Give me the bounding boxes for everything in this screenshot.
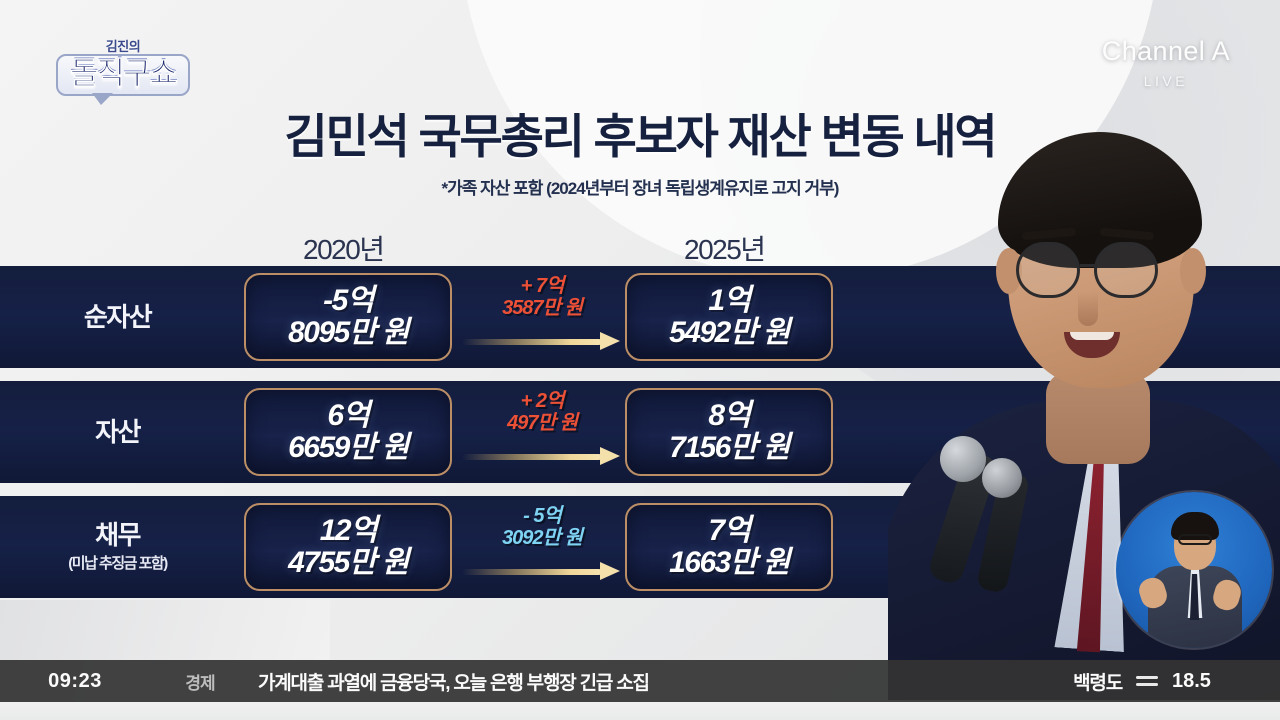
row-label-net-assets: 순자산 (0, 303, 235, 332)
value-line-1: 12억 (320, 516, 376, 547)
column-header-2020: 2020년 (303, 228, 384, 268)
program-logo-main-text: 돌직구쇼 (56, 54, 190, 97)
program-logo-top-text: 김진의 (106, 40, 140, 53)
value-line-1: 6억 (327, 401, 368, 432)
delta-line-1: - 5억 (523, 506, 561, 527)
broadcast-screen: 김진의 돌직구쇼 Channel A LIVE 김민석 국무총리 후보자 재산 … (0, 0, 1280, 720)
arrow-right-icon (462, 334, 622, 350)
value-box-2025: 1억 5492만 원 (625, 273, 833, 361)
value-line-1: 7억 (708, 516, 749, 547)
arrow-right-icon (462, 449, 622, 465)
value-line-2: 5492만 원 (669, 317, 789, 349)
ticker-weather: 백령도 18.5 (1073, 668, 1280, 695)
eyeglasses-icon (1016, 242, 1080, 298)
value-line-2: 1663만 원 (669, 547, 789, 579)
row-label-text: 채무 (0, 521, 235, 550)
delta-line-2: 3587만 원 (502, 297, 582, 320)
ticker-time: 09:23 (0, 670, 150, 693)
ticker-headline: 가계대출 과열에 금융당국, 오늘 은행 부행장 긴급 소집 (250, 668, 1073, 695)
value-box-2025: 8억 7156만 원 (625, 388, 833, 476)
value-box-2025: 7억 1663만 원 (625, 503, 833, 591)
sign-language-pip (1116, 492, 1272, 648)
delta-line-1: + 7억 (521, 276, 564, 297)
row-label-text: 자산 (0, 418, 235, 447)
row-label-note: (미납 추징금 포함) (0, 552, 235, 573)
haze-icon (1136, 676, 1158, 686)
news-ticker: 09:23 경제 가계대출 과열에 금융당국, 오늘 은행 부행장 긴급 소집 … (0, 660, 1280, 702)
program-logo: 김진의 돌직구쇼 (48, 32, 198, 104)
row-label-text: 순자산 (0, 303, 235, 332)
value-line-1: 1억 (708, 286, 749, 317)
value-line-1: 8억 (708, 401, 749, 432)
value-line-2: 8095만 원 (288, 317, 408, 349)
delta-line-2: 3092만 원 (502, 527, 582, 550)
value-box-2020: 6억 6659만 원 (244, 388, 452, 476)
bottom-letterbox (0, 702, 1280, 720)
column-header-2025: 2025년 (684, 228, 765, 268)
column-headers: 2020년 2025년 (0, 228, 880, 262)
value-box-2020: 12억 4755만 원 (244, 503, 452, 591)
delta-line-2: 497만 원 (507, 412, 577, 435)
weather-temperature: 18.5 (1172, 670, 1224, 693)
value-line-2: 4755만 원 (288, 547, 408, 579)
arrow-right-icon (462, 564, 622, 580)
row-label-debt: 채무 (미납 추징금 포함) (0, 521, 235, 573)
delta-line-1: + 2억 (521, 391, 564, 412)
ticker-category: 경제 (150, 669, 250, 694)
value-line-1: -5억 (323, 286, 373, 317)
value-line-2: 7156만 원 (669, 432, 789, 464)
row-label-assets: 자산 (0, 418, 235, 447)
weather-location: 백령도 (1073, 668, 1122, 695)
value-box-2020: -5억 8095만 원 (244, 273, 452, 361)
value-line-2: 6659만 원 (288, 432, 408, 464)
